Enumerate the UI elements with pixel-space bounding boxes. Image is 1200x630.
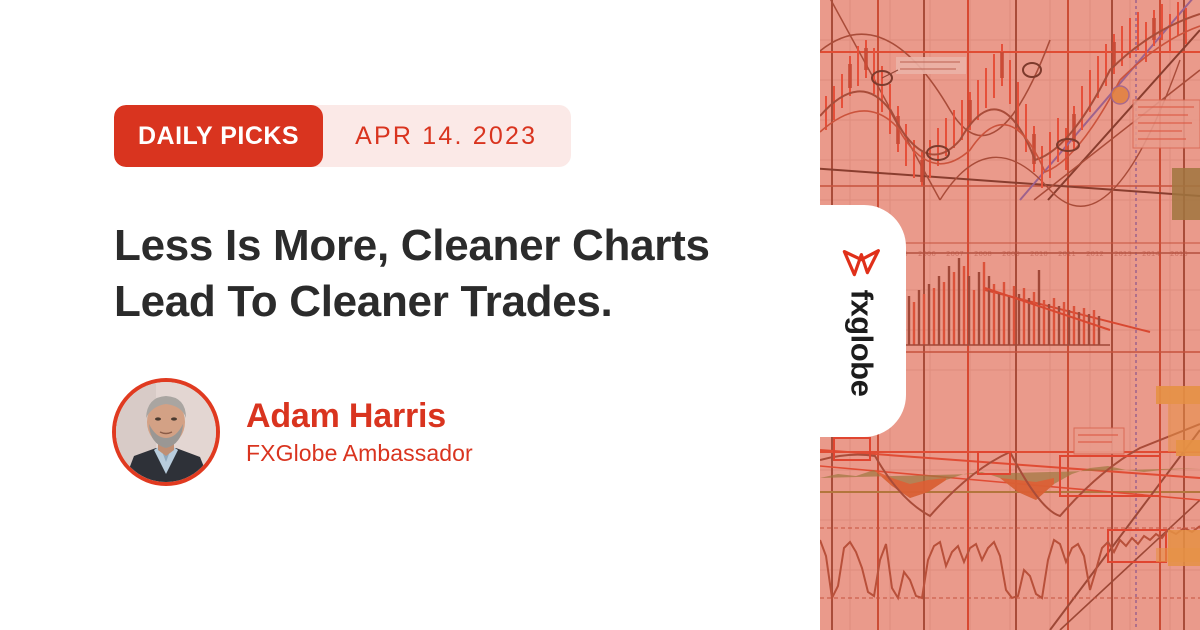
page-title: Less Is More, Cleaner Charts Lead To Cle… bbox=[114, 218, 774, 331]
svg-text:2014: 2014 bbox=[1142, 250, 1160, 258]
svg-text:2012: 2012 bbox=[1086, 250, 1104, 258]
meta-bar: DAILY PICKS APR 14. 2023 bbox=[114, 105, 571, 167]
callout-text-box-right bbox=[1133, 100, 1200, 148]
svg-text:2006: 2006 bbox=[918, 250, 936, 258]
svg-text:2013: 2013 bbox=[1114, 250, 1132, 258]
fxglobe-logo-panel: fxglobe bbox=[816, 205, 906, 437]
fxglobe-butterfly-mark-icon bbox=[841, 246, 881, 280]
fxglobe-wordmark: fxglobe bbox=[843, 290, 879, 397]
svg-text:2015: 2015 bbox=[1170, 250, 1188, 258]
author-text: Adam Harris FXGlobe Ambassador bbox=[246, 397, 473, 467]
headline-line-1: Less Is More, Cleaner Charts bbox=[114, 218, 774, 274]
svg-text:2009: 2009 bbox=[1002, 250, 1020, 258]
svg-text:2008: 2008 bbox=[974, 250, 992, 258]
article-card-left: DAILY PICKS APR 14. 2023 Less Is More, C… bbox=[0, 0, 820, 630]
orange-dot-marker bbox=[1111, 86, 1129, 104]
avatar bbox=[112, 378, 220, 486]
svg-text:2007: 2007 bbox=[946, 250, 964, 258]
headline-line-2: Lead To Cleaner Trades. bbox=[114, 274, 774, 330]
publish-date-label: APR 14. 2023 bbox=[323, 105, 571, 167]
svg-text:2011: 2011 bbox=[1058, 250, 1076, 258]
avatar-portrait-image bbox=[116, 382, 216, 482]
author-role: FXGlobe Ambassador bbox=[246, 440, 473, 467]
fxglobe-logo-lockup: fxglobe bbox=[841, 246, 881, 397]
callout-text-box-lower bbox=[1074, 428, 1124, 454]
author-name: Adam Harris bbox=[246, 397, 473, 436]
svg-text:2010: 2010 bbox=[1030, 250, 1048, 258]
daily-picks-badge: DAILY PICKS bbox=[114, 105, 323, 167]
author-block: Adam Harris FXGlobe Ambassador bbox=[112, 378, 473, 486]
